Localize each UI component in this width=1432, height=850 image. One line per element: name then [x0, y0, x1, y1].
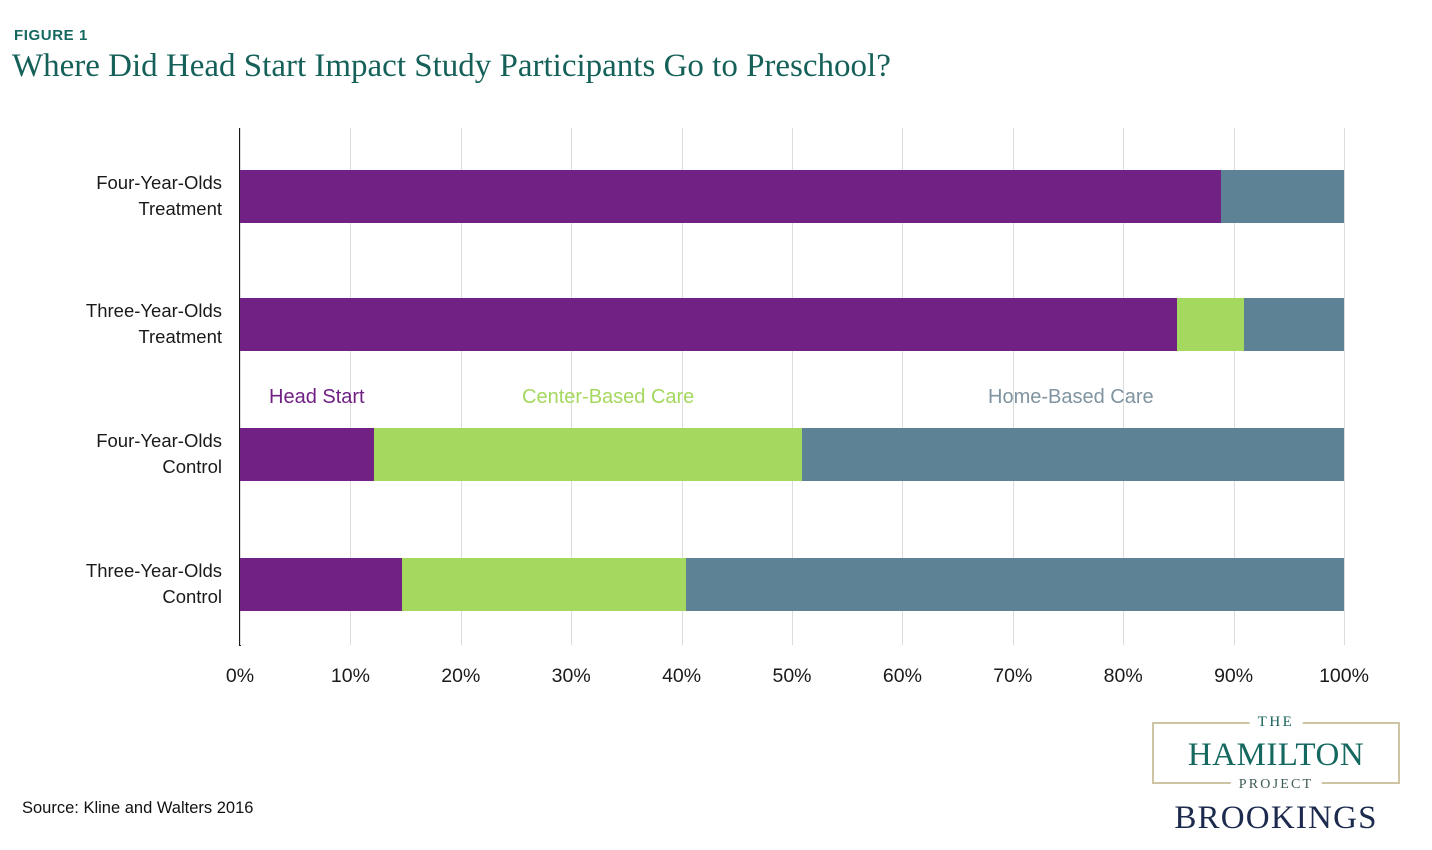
category-label-line: Three-Year-Olds [12, 558, 222, 585]
bar-row [240, 298, 1344, 351]
hamilton-project-logo: THE HAMILTON PROJECT [1152, 722, 1400, 784]
x-tick-label: 20% [426, 665, 496, 688]
logo-project-text: PROJECT [1231, 777, 1322, 793]
x-tick-label: 30% [536, 665, 606, 688]
category-label-1: Three-Year-OldsTreatment [12, 298, 222, 352]
gridline-100 [1344, 128, 1345, 645]
category-label-0: Four-Year-OldsTreatment [12, 170, 222, 224]
x-tick-label: 0% [205, 665, 275, 688]
category-label-2: Four-Year-OldsControl [12, 428, 222, 482]
bar-segment-head-start[interactable] [240, 170, 1221, 223]
figure-label: FIGURE 1 [14, 27, 88, 44]
logo-hamilton-text: HAMILTON [1154, 737, 1398, 774]
category-label-3: Three-Year-OldsControl [12, 558, 222, 612]
bar-row [240, 170, 1344, 223]
x-tick-label: 40% [647, 665, 717, 688]
bar-segment-home-based-care[interactable] [802, 428, 1344, 481]
category-label-line: Four-Year-Olds [12, 170, 222, 197]
logo-brookings-text: BROOKINGS [1152, 800, 1400, 837]
source-note: Source: Kline and Walters 2016 [22, 799, 253, 818]
x-tick-label: 50% [757, 665, 827, 688]
hamilton-brookings-logo: THE HAMILTON PROJECT BROOKINGS [1152, 722, 1400, 837]
bar-segment-center-based-care[interactable] [1177, 298, 1243, 351]
category-label-line: Control [12, 584, 222, 611]
bar-row [240, 558, 1344, 611]
x-tick-label: 100% [1309, 665, 1379, 688]
plot-area [240, 128, 1344, 645]
bar-segment-head-start[interactable] [240, 428, 374, 481]
logo-the-text: THE [1250, 714, 1303, 731]
x-tick-label: 80% [1088, 665, 1158, 688]
legend-item-home-based-care[interactable]: Home-Based Care [988, 386, 1154, 409]
bar-segment-head-start[interactable] [240, 298, 1177, 351]
bar-segment-center-based-care[interactable] [374, 428, 802, 481]
category-label-line: Three-Year-Olds [12, 298, 222, 325]
x-tick-label: 10% [315, 665, 385, 688]
category-label-line: Treatment [12, 196, 222, 223]
bar-segment-home-based-care[interactable] [686, 558, 1344, 611]
figure-root: FIGURE 1 Where Did Head Start Impact Stu… [0, 0, 1432, 850]
x-tick-label: 90% [1199, 665, 1269, 688]
legend-item-head-start[interactable]: Head Start [269, 386, 365, 409]
bar-segment-home-based-care[interactable] [1221, 170, 1344, 223]
bar-segment-center-based-care[interactable] [402, 558, 686, 611]
x-tick-label: 70% [978, 665, 1048, 688]
bar-row [240, 428, 1344, 481]
bar-segment-home-based-care[interactable] [1244, 298, 1344, 351]
legend-item-center-based-care[interactable]: Center-Based Care [522, 386, 694, 409]
page-title: Where Did Head Start Impact Study Partic… [12, 48, 891, 85]
bar-segment-head-start[interactable] [240, 558, 402, 611]
category-label-line: Treatment [12, 324, 222, 351]
x-tick-label: 60% [867, 665, 937, 688]
category-label-line: Control [12, 454, 222, 481]
category-label-line: Four-Year-Olds [12, 428, 222, 455]
